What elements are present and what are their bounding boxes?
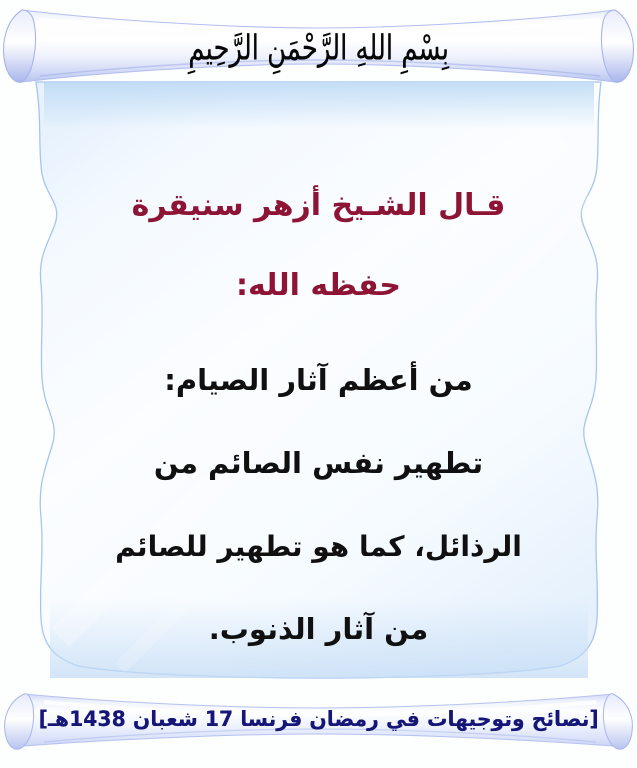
footer-bar-shape	[0, 688, 637, 762]
quote-card: بِسْمِ اللهِ الرَّحْمَنِ الرَّحِيمِ	[0, 0, 637, 768]
scroll-banner: بِسْمِ اللهِ الرَّحْمَنِ الرَّحِيمِ	[0, 2, 637, 90]
parchment-sheet: قـال الشـيخ أزهر سنيقرة حفظه الله: من أع…	[0, 78, 637, 698]
scroll-banner-shape	[0, 2, 637, 90]
parchment-shape	[0, 78, 637, 698]
source-footer-bar: [نصائح وتوجيهات في رمضان فرنسا 17 شعبان …	[0, 688, 637, 762]
